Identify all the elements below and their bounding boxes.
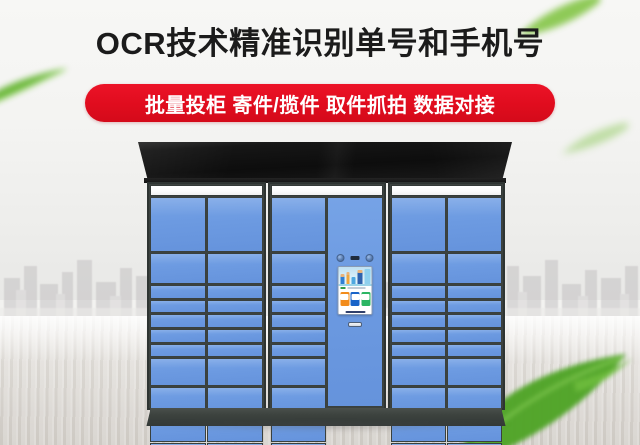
locker-door[interactable] <box>207 253 263 285</box>
locker-door[interactable] <box>207 300 263 314</box>
screen-caption-strip <box>339 286 372 290</box>
locker-door[interactable] <box>207 358 263 385</box>
locker-door[interactable] <box>150 197 206 252</box>
bay-header-middle <box>271 185 382 196</box>
locker-door[interactable] <box>391 344 446 358</box>
locker-row <box>391 344 502 358</box>
kiosk-card-slot[interactable] <box>348 322 362 327</box>
locker-row <box>271 358 326 385</box>
locker-bay-left <box>147 182 266 410</box>
locker-door[interactable] <box>207 329 263 343</box>
locker-row <box>150 358 263 385</box>
locker-door[interactable] <box>447 344 502 358</box>
promo-banner: OCR技术精准识别单号和手机号 批量投柜 寄件/揽件 取件抓拍 数据对接 <box>0 0 640 445</box>
screen-footer-bar <box>339 307 372 314</box>
kiosk-sensor-strip <box>337 254 374 262</box>
locker-row <box>271 329 326 343</box>
locker-bay-middle <box>268 182 385 410</box>
bay-header-left <box>150 185 263 196</box>
locker-door[interactable] <box>271 358 326 385</box>
locker-bay-right <box>388 182 505 410</box>
locker-door[interactable] <box>271 285 326 299</box>
door-column-middle-left <box>271 197 326 407</box>
locker-door[interactable] <box>447 285 502 299</box>
scanner-bar-icon <box>351 256 360 260</box>
locker-row <box>391 329 502 343</box>
canopy-face <box>138 142 512 180</box>
locker-door[interactable] <box>271 197 326 252</box>
locker-door[interactable] <box>271 329 326 343</box>
locker-door[interactable] <box>391 314 446 328</box>
locker-canopy <box>138 142 512 182</box>
box-icon <box>351 294 359 300</box>
page-title: OCR技术精准识别单号和手机号 <box>0 24 640 64</box>
locker-row <box>391 253 502 285</box>
locker-door[interactable] <box>271 300 326 314</box>
grid-icon <box>362 294 370 300</box>
bay-header-right <box>391 185 502 196</box>
locker-row <box>271 300 326 314</box>
camera-icon-left <box>337 254 345 262</box>
locker-door[interactable] <box>391 197 446 252</box>
door-grid-right <box>391 197 502 407</box>
locker-row <box>391 300 502 314</box>
locker-door[interactable] <box>150 300 206 314</box>
screen-action-buttons <box>339 290 372 307</box>
locker-door[interactable] <box>447 300 502 314</box>
locker-door[interactable] <box>391 329 446 343</box>
locker-door[interactable] <box>150 253 206 285</box>
locker-row <box>391 358 502 385</box>
kiosk-panel <box>327 197 382 407</box>
locker-door[interactable] <box>391 300 446 314</box>
locker-row <box>271 253 326 285</box>
locker-door[interactable] <box>271 314 326 328</box>
locker-door[interactable] <box>207 197 263 252</box>
locker-door[interactable] <box>150 358 206 385</box>
locker-door[interactable] <box>447 314 502 328</box>
locker-row <box>150 314 263 328</box>
locker-door[interactable] <box>150 314 206 328</box>
feature-pill: 批量投柜 寄件/揽件 取件抓拍 数据对接 <box>85 84 555 122</box>
locker-door[interactable] <box>447 329 502 343</box>
locker-door[interactable] <box>391 358 446 385</box>
locker-row <box>271 344 326 358</box>
locker-door[interactable] <box>150 344 206 358</box>
locker-door[interactable] <box>207 344 263 358</box>
locker-row <box>271 285 326 299</box>
locker-shadow <box>139 423 513 432</box>
locker-door[interactable] <box>271 344 326 358</box>
locker-row <box>150 300 263 314</box>
parcel-icon <box>341 294 349 300</box>
locker-row <box>150 344 263 358</box>
locker-door[interactable] <box>447 197 502 252</box>
locker-row <box>150 285 263 299</box>
locker-door[interactable] <box>447 358 502 385</box>
screen-banner-image <box>339 267 372 286</box>
locker-door[interactable] <box>391 253 446 285</box>
kiosk-touchscreen[interactable] <box>338 266 373 315</box>
locker-row <box>271 197 326 252</box>
locker-row <box>271 314 326 328</box>
locker-row <box>391 285 502 299</box>
kiosk-button-send[interactable] <box>340 292 349 306</box>
locker-door[interactable] <box>391 285 446 299</box>
locker-door[interactable] <box>150 329 206 343</box>
locker-row <box>150 329 263 343</box>
locker-cabinet <box>147 182 505 410</box>
feature-pill-label: 批量投柜 寄件/揽件 取件抓拍 数据对接 <box>145 89 495 118</box>
camera-icon-right <box>366 254 374 262</box>
kiosk-button-more[interactable] <box>361 292 370 306</box>
locker-row <box>391 314 502 328</box>
locker-row <box>150 197 263 252</box>
smart-locker-unit <box>139 142 511 427</box>
door-grid-middle <box>271 197 382 407</box>
door-grid-left <box>150 197 263 407</box>
locker-door[interactable] <box>207 285 263 299</box>
locker-door[interactable] <box>447 253 502 285</box>
locker-door[interactable] <box>207 314 263 328</box>
locker-row <box>391 197 502 252</box>
locker-door[interactable] <box>271 253 326 285</box>
kiosk-button-pickup[interactable] <box>351 292 360 306</box>
locker-row <box>150 253 263 285</box>
locker-door[interactable] <box>150 285 206 299</box>
